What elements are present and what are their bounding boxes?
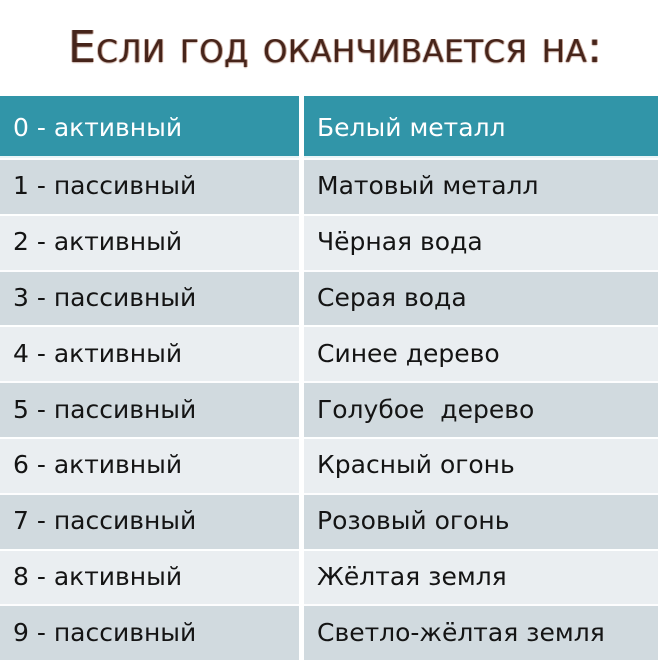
table-row: 2 - активный Чёрная вода (0, 214, 658, 270)
cell-element: Синее дерево (304, 325, 658, 381)
cell-digit-activity: 7 - пассивный (0, 493, 299, 549)
table-header-row: 0 - активный Белый металл (0, 96, 658, 158)
cell-element: Светло-жёлтая земля (304, 604, 658, 660)
table-row: 6 - активный Красный огонь (0, 437, 658, 493)
cell-digit-activity: 4 - активный (0, 325, 299, 381)
cell-digit-activity: 2 - активный (0, 214, 299, 270)
table-row: 9 - пассивный Светло-жёлтая земля (0, 604, 658, 660)
correspondence-table: 0 - активный Белый металл 1 - пассивный … (0, 96, 658, 661)
cell-digit-activity: 8 - активный (0, 549, 299, 605)
cell-digit-activity: 1 - пассивный (0, 158, 299, 214)
table-row: 7 - пассивный Розовый огонь (0, 493, 658, 549)
title-area: Если год оканчивается на: (0, 0, 658, 96)
cell-element: Жёлтая земля (304, 549, 658, 605)
cell-element: Чёрная вода (304, 214, 658, 270)
cell-digit-activity: 5 - пассивный (0, 381, 299, 437)
cell-digit-activity: 6 - активный (0, 437, 299, 493)
table-row: 4 - активный Синее дерево (0, 325, 658, 381)
page-title: Если год оканчивается на: (68, 22, 602, 73)
cell-element: Голубое дерево (304, 381, 658, 437)
cell-element: Матовый металл (304, 158, 658, 214)
table-row: 5 - пассивный Голубое дерево (0, 381, 658, 437)
cell-element: Розовый огонь (304, 493, 658, 549)
table-row: 1 - пассивный Матовый металл (0, 158, 658, 214)
cell-digit-activity: 9 - пассивный (0, 604, 299, 660)
table-row: 3 - пассивный Серая вода (0, 270, 658, 326)
cell-digit-activity: 3 - пассивный (0, 270, 299, 326)
header-cell-digit-activity: 0 - активный (0, 96, 299, 158)
header-cell-element: Белый металл (304, 96, 658, 158)
table-row: 8 - активный Жёлтая земля (0, 549, 658, 605)
cell-element: Серая вода (304, 270, 658, 326)
cell-element: Красный огонь (304, 437, 658, 493)
page-root: Если год оканчивается на: 0 - активный Б… (0, 0, 658, 661)
